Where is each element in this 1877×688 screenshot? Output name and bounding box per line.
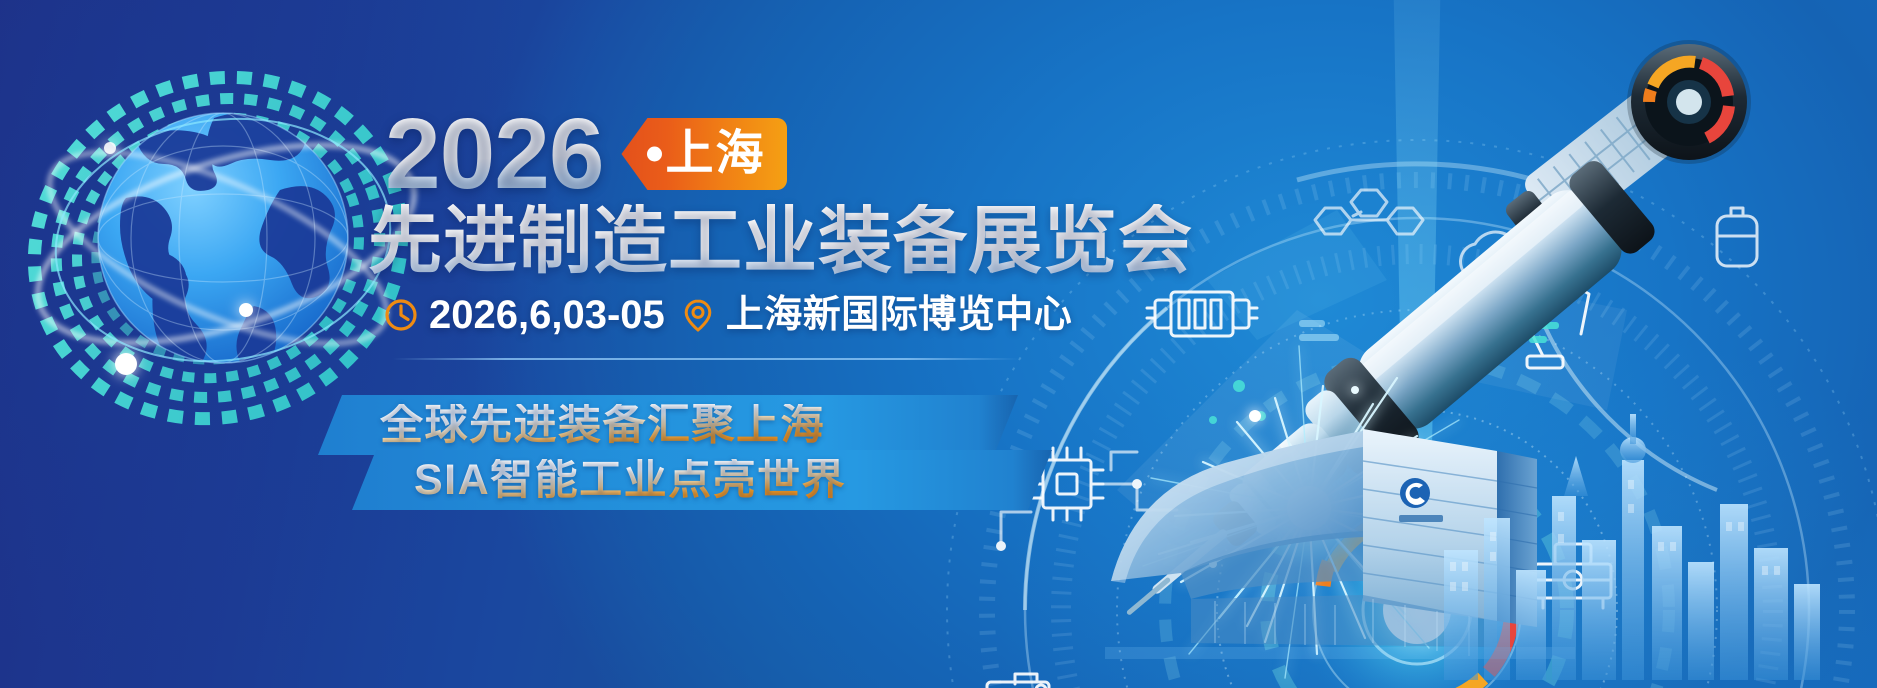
banner-text-content: 2026 上海 先进制造工业装备展览会 2026,6,03-05 上海新 <box>0 0 1060 688</box>
clock-icon <box>384 298 418 332</box>
divider <box>392 358 1020 360</box>
date-item: 2026,6,03-05 <box>384 295 665 335</box>
slogan-banner-1: 全球先进装备汇聚上海 <box>318 395 1018 455</box>
year-and-city-row: 2026 上海 <box>385 104 787 204</box>
date-label: 2026,6,03-05 <box>429 295 665 335</box>
dot-icon <box>647 147 662 162</box>
city-tag-label: 上海 <box>665 130 765 178</box>
slogan-text-1: 全球先进装备汇聚上海 <box>380 404 825 447</box>
year-label: 2026 <box>385 104 603 204</box>
venue-item: 上海新国际博览中心 <box>681 296 1073 334</box>
city-skyline-icon <box>1430 400 1830 688</box>
venue-label: 上海新国际博览中心 <box>726 296 1073 334</box>
meta-row: 2026,6,03-05 上海新国际博览中心 <box>384 295 1072 335</box>
slogan-banner-2: SIA智能工业点亮世界 <box>352 450 1052 510</box>
slogan-text-2: SIA智能工业点亮世界 <box>414 459 846 502</box>
city-tag: 上海 <box>621 118 787 190</box>
city-skyline-graphic <box>1430 400 1830 688</box>
page-title: 先进制造工业装备展览会 <box>368 204 1193 278</box>
promo-banner: 5G <box>0 0 1877 688</box>
location-pin-icon <box>681 298 715 332</box>
